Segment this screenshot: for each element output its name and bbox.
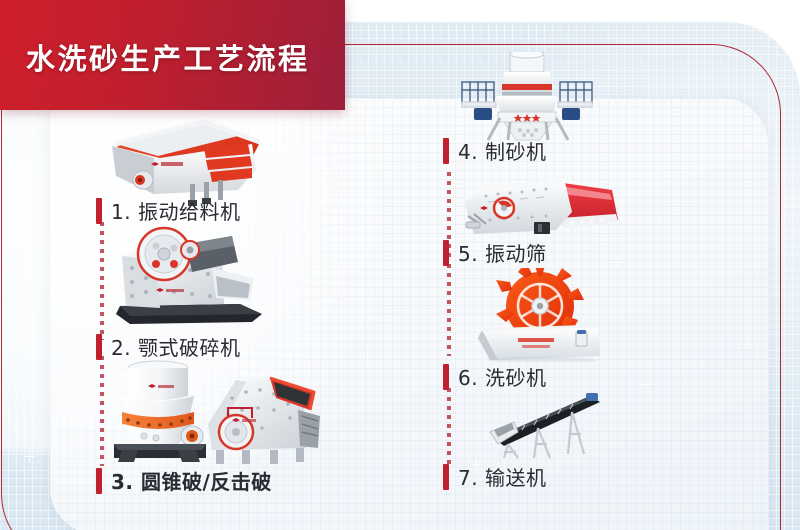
flow-item-label: 5. 振动筛 — [458, 238, 546, 267]
infographic-stage: 1. 振动给料机 — [0, 0, 800, 530]
flow-item-4[interactable]: 4. 制砂机 — [443, 136, 546, 165]
machine-vibrating-feeder — [96, 114, 262, 206]
machine-cone-crusher — [108, 356, 214, 466]
flow-marker-bar — [96, 468, 102, 494]
connector-1-to-2 — [100, 222, 104, 340]
flow-item-label: 6. 洗砂机 — [458, 362, 546, 391]
flow-marker-bar — [443, 138, 449, 164]
flow-marker-bar — [443, 464, 449, 490]
machine-sand-washer — [478, 268, 610, 362]
machine-jaw-crusher — [112, 226, 272, 330]
flow-item-7[interactable]: 7. 输送机 — [443, 462, 546, 491]
machine-impact-crusher — [202, 366, 328, 468]
connector-2-to-3 — [100, 356, 104, 466]
flow-marker-bar — [443, 364, 449, 390]
machine-belt-conveyor — [480, 392, 608, 460]
flow-item-6[interactable]: 6. 洗砂机 — [443, 362, 546, 391]
title-banner: 水洗砂生产工艺流程 — [0, 0, 345, 110]
flow-item-label: 7. 输送机 — [458, 462, 546, 491]
flow-item-label: 4. 制砂机 — [458, 136, 546, 165]
flow-item-label: 1. 振动给料机 — [111, 196, 240, 225]
flow-marker-bar — [96, 198, 102, 224]
flow-item-label: 3. 圆锥破/反击破 — [111, 466, 272, 495]
machine-sand-making — [452, 52, 602, 144]
flow-item-1[interactable]: 1. 振动给料机 — [96, 196, 240, 225]
flow-marker-bar — [96, 334, 102, 360]
flow-item-5[interactable]: 5. 振动筛 — [443, 238, 546, 267]
flow-item-3[interactable]: 3. 圆锥破/反击破 — [96, 466, 272, 495]
connector-5-to-6 — [447, 264, 451, 356]
page-title: 水洗砂生产工艺流程 — [26, 36, 310, 78]
flow-marker-bar — [443, 240, 449, 266]
machine-vibrating-screen — [460, 168, 622, 244]
connector-6-to-7 — [447, 388, 451, 466]
